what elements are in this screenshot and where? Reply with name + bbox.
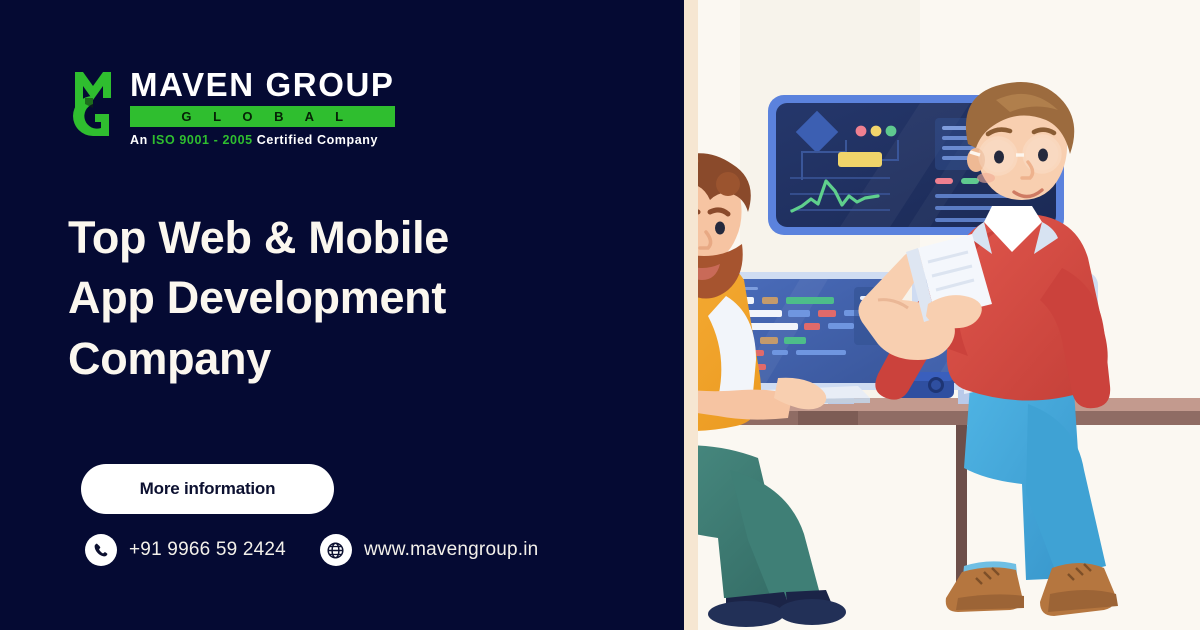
globe-icon	[320, 534, 352, 566]
more-information-button[interactable]: More information	[81, 464, 334, 514]
phone-number: +91 9966 59 2424	[129, 539, 286, 561]
company-logo[interactable]: MAVEN GROUP G L O B A L An ISO 9001 - 20…	[72, 68, 395, 147]
logo-company-name: MAVEN GROUP	[130, 68, 395, 101]
banner-root: MAVEN GROUP G L O B A L An ISO 9001 - 20…	[0, 0, 1200, 630]
website-url: www.mavengroup.in	[364, 539, 538, 561]
headline-line-1: Top Web & Mobile	[68, 208, 628, 268]
logo-global-bar: G L O B A L	[130, 106, 395, 127]
phone-contact[interactable]: +91 9966 59 2424	[85, 534, 286, 566]
page-title: Top Web & Mobile App Development Company	[68, 208, 628, 389]
website-contact[interactable]: www.mavengroup.in	[320, 534, 538, 566]
phone-icon	[85, 534, 117, 566]
cert-standard: ISO 9001 - 2005	[152, 133, 253, 147]
cert-suffix: Certified Company	[257, 133, 378, 147]
cert-prefix: An	[130, 133, 148, 147]
headline-line-3: Company	[68, 329, 628, 389]
headline-line-2: App Development	[68, 268, 628, 328]
logo-global-text: G L O B A L	[172, 109, 352, 124]
illustration-scene	[540, 0, 1200, 630]
mg-monogram-icon	[72, 68, 114, 136]
logo-certification: An ISO 9001 - 2005 Certified Company	[130, 133, 395, 147]
contact-bar: +91 9966 59 2424 www.mavengroup.in	[85, 534, 538, 566]
